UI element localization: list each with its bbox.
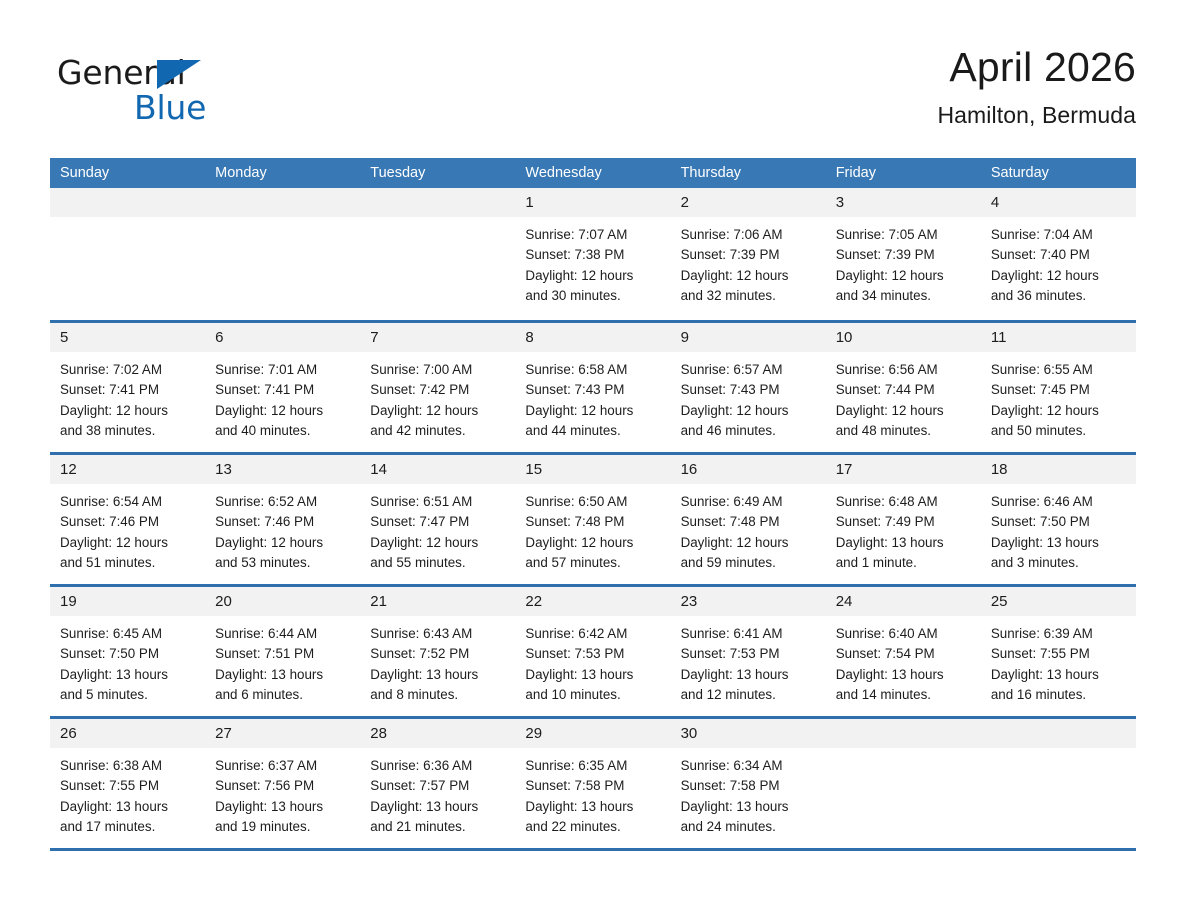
sunset-text: Sunset: 7:42 PM [370,380,505,400]
calendar-day-cell[interactable]: 14Sunrise: 6:51 AMSunset: 7:47 PMDayligh… [360,455,515,584]
day-number-band: 5 [50,323,205,352]
daylight-text: Daylight: 13 hours [991,533,1126,553]
weekday-header-sunday: Sunday [50,158,205,188]
sunrise-text: Sunrise: 6:37 AM [215,756,350,776]
daylight-text: Daylight: 13 hours [60,665,195,685]
sunset-text: Sunset: 7:46 PM [60,512,195,532]
day-number-band: 10 [826,323,981,352]
day-number: 24 [826,587,981,616]
calendar-day-cell[interactable]: 12Sunrise: 6:54 AMSunset: 7:46 PMDayligh… [50,455,205,584]
sunset-text: Sunset: 7:45 PM [991,380,1126,400]
title-block: April 2026 Hamilton, Bermuda [937,42,1136,131]
daylight-text-cont: and 30 minutes. [525,286,660,306]
day-number-band: 15 [515,455,670,484]
daylight-text-cont: and 59 minutes. [681,553,816,573]
calendar-day-cell[interactable]: 19Sunrise: 6:45 AMSunset: 7:50 PMDayligh… [50,587,205,716]
page-header: General Blue April 2026 Hamilton, Bermud… [50,42,1136,146]
daylight-text-cont: and 34 minutes. [836,286,971,306]
sunrise-text: Sunrise: 6:44 AM [215,624,350,644]
daylight-text-cont: and 46 minutes. [681,421,816,441]
daylight-text-cont: and 38 minutes. [60,421,195,441]
calendar-day-cell[interactable]: 5Sunrise: 7:02 AMSunset: 7:41 PMDaylight… [50,323,205,452]
day-details: Sunrise: 6:50 AMSunset: 7:48 PMDaylight:… [515,484,670,573]
day-number-band: 22 [515,587,670,616]
sunrise-text: Sunrise: 6:54 AM [60,492,195,512]
calendar-day-cell[interactable]: 28Sunrise: 6:36 AMSunset: 7:57 PMDayligh… [360,719,515,848]
sunset-text: Sunset: 7:50 PM [60,644,195,664]
day-number-band: 8 [515,323,670,352]
weekday-header-monday: Monday [205,158,360,188]
day-number-band: 21 [360,587,515,616]
day-number: 25 [981,587,1136,616]
daylight-text: Daylight: 12 hours [991,401,1126,421]
daylight-text: Daylight: 13 hours [60,797,195,817]
calendar-day-cell[interactable]: 3Sunrise: 7:05 AMSunset: 7:39 PMDaylight… [826,188,981,320]
daylight-text: Daylight: 13 hours [215,797,350,817]
calendar-day-cell-empty [826,719,981,848]
day-details [360,217,515,225]
daylight-text: Daylight: 13 hours [525,665,660,685]
calendar-week-row: 26Sunrise: 6:38 AMSunset: 7:55 PMDayligh… [50,716,1136,848]
day-number-band: 17 [826,455,981,484]
day-number: 8 [515,323,670,352]
calendar-day-cell[interactable]: 22Sunrise: 6:42 AMSunset: 7:53 PMDayligh… [515,587,670,716]
calendar-day-cell[interactable]: 20Sunrise: 6:44 AMSunset: 7:51 PMDayligh… [205,587,360,716]
sunset-text: Sunset: 7:41 PM [60,380,195,400]
weekday-header-tuesday: Tuesday [360,158,515,188]
day-number-band: 26 [50,719,205,748]
daylight-text: Daylight: 12 hours [525,533,660,553]
sunrise-text: Sunrise: 6:56 AM [836,360,971,380]
day-number-band: 20 [205,587,360,616]
day-number-band: 2 [671,188,826,217]
day-number: 23 [671,587,826,616]
day-number: 15 [515,455,670,484]
day-details: Sunrise: 6:44 AMSunset: 7:51 PMDaylight:… [205,616,360,705]
daylight-text-cont: and 16 minutes. [991,685,1126,705]
day-number-band: 4 [981,188,1136,217]
day-details: Sunrise: 6:48 AMSunset: 7:49 PMDaylight:… [826,484,981,573]
sunrise-text: Sunrise: 7:05 AM [836,225,971,245]
day-number: 20 [205,587,360,616]
calendar-day-cell-empty [981,719,1136,848]
day-details: Sunrise: 6:43 AMSunset: 7:52 PMDaylight:… [360,616,515,705]
daylight-text-cont: and 5 minutes. [60,685,195,705]
day-details: Sunrise: 6:37 AMSunset: 7:56 PMDaylight:… [205,748,360,837]
daylight-text: Daylight: 13 hours [370,665,505,685]
day-number: 10 [826,323,981,352]
sunset-text: Sunset: 7:46 PM [215,512,350,532]
daylight-text: Daylight: 12 hours [681,533,816,553]
sunrise-text: Sunrise: 6:36 AM [370,756,505,776]
sunset-text: Sunset: 7:52 PM [370,644,505,664]
calendar-day-cell[interactable]: 26Sunrise: 6:38 AMSunset: 7:55 PMDayligh… [50,719,205,848]
daylight-text-cont: and 24 minutes. [681,817,816,837]
sunset-text: Sunset: 7:47 PM [370,512,505,532]
sunrise-text: Sunrise: 6:39 AM [991,624,1126,644]
sunrise-text: Sunrise: 6:34 AM [681,756,816,776]
day-number-band: 14 [360,455,515,484]
sunset-text: Sunset: 7:40 PM [991,245,1126,265]
daylight-text-cont: and 42 minutes. [370,421,505,441]
day-details: Sunrise: 6:46 AMSunset: 7:50 PMDaylight:… [981,484,1136,573]
day-details: Sunrise: 6:49 AMSunset: 7:48 PMDaylight:… [671,484,826,573]
sunset-text: Sunset: 7:41 PM [215,380,350,400]
day-number: 3 [826,188,981,217]
sunrise-text: Sunrise: 7:04 AM [991,225,1126,245]
day-details [205,217,360,225]
daylight-text: Daylight: 13 hours [370,797,505,817]
daylight-text: Daylight: 12 hours [836,266,971,286]
calendar-day-cell[interactable]: 6Sunrise: 7:01 AMSunset: 7:41 PMDaylight… [205,323,360,452]
weekday-header-thursday: Thursday [671,158,826,188]
daylight-text-cont: and 57 minutes. [525,553,660,573]
day-details: Sunrise: 6:41 AMSunset: 7:53 PMDaylight:… [671,616,826,705]
daylight-text: Daylight: 12 hours [60,533,195,553]
daylight-text: Daylight: 12 hours [681,401,816,421]
day-number-band: 16 [671,455,826,484]
calendar-day-cell[interactable]: 9Sunrise: 6:57 AMSunset: 7:43 PMDaylight… [671,323,826,452]
sunrise-text: Sunrise: 6:52 AM [215,492,350,512]
sunrise-text: Sunrise: 6:35 AM [525,756,660,776]
day-details: Sunrise: 6:55 AMSunset: 7:45 PMDaylight:… [981,352,1136,441]
day-details: Sunrise: 6:40 AMSunset: 7:54 PMDaylight:… [826,616,981,705]
daylight-text-cont: and 10 minutes. [525,685,660,705]
sunset-text: Sunset: 7:58 PM [525,776,660,796]
weekday-header-friday: Friday [826,158,981,188]
day-number: 6 [205,323,360,352]
daylight-text: Daylight: 12 hours [836,401,971,421]
day-number: 5 [50,323,205,352]
grid-bottom-rule [50,848,1136,851]
day-details: Sunrise: 6:45 AMSunset: 7:50 PMDaylight:… [50,616,205,705]
day-number-band: 6 [205,323,360,352]
daylight-text-cont: and 55 minutes. [370,553,505,573]
daylight-text: Daylight: 12 hours [681,266,816,286]
day-number-band: 18 [981,455,1136,484]
daylight-text-cont: and 14 minutes. [836,685,971,705]
day-number-band: 13 [205,455,360,484]
sunrise-text: Sunrise: 6:50 AM [525,492,660,512]
calendar-day-cell[interactable]: 11Sunrise: 6:55 AMSunset: 7:45 PMDayligh… [981,323,1136,452]
day-number-band: 24 [826,587,981,616]
sunset-text: Sunset: 7:48 PM [681,512,816,532]
calendar-week-row: 1Sunrise: 7:07 AMSunset: 7:38 PMDaylight… [50,188,1136,320]
sunrise-text: Sunrise: 6:49 AM [681,492,816,512]
calendar-day-cell[interactable]: 7Sunrise: 7:00 AMSunset: 7:42 PMDaylight… [360,323,515,452]
sunrise-text: Sunrise: 6:58 AM [525,360,660,380]
daylight-text: Daylight: 12 hours [525,401,660,421]
day-number: 4 [981,188,1136,217]
sunrise-text: Sunrise: 7:07 AM [525,225,660,245]
day-details: Sunrise: 7:04 AMSunset: 7:40 PMDaylight:… [981,217,1136,306]
sunrise-text: Sunrise: 6:38 AM [60,756,195,776]
daylight-text-cont: and 21 minutes. [370,817,505,837]
sunrise-text: Sunrise: 6:41 AM [681,624,816,644]
day-number: 16 [671,455,826,484]
day-number: 22 [515,587,670,616]
daylight-text: Daylight: 13 hours [525,797,660,817]
day-details: Sunrise: 6:42 AMSunset: 7:53 PMDaylight:… [515,616,670,705]
daylight-text-cont: and 12 minutes. [681,685,816,705]
daylight-text-cont: and 32 minutes. [681,286,816,306]
daylight-text: Daylight: 12 hours [991,266,1126,286]
daylight-text-cont: and 40 minutes. [215,421,350,441]
day-number-band: 1 [515,188,670,217]
daylight-text-cont: and 17 minutes. [60,817,195,837]
day-number: 26 [50,719,205,748]
day-number-band: 23 [671,587,826,616]
day-number: 27 [205,719,360,748]
location-subtitle: Hamilton, Bermuda [937,99,1136,131]
day-details [50,217,205,225]
sunset-text: Sunset: 7:49 PM [836,512,971,532]
day-number-band: 29 [515,719,670,748]
day-number: 2 [671,188,826,217]
daylight-text: Daylight: 13 hours [681,665,816,685]
daylight-text: Daylight: 12 hours [370,401,505,421]
calendar-day-cell[interactable]: 10Sunrise: 6:56 AMSunset: 7:44 PMDayligh… [826,323,981,452]
day-details: Sunrise: 6:38 AMSunset: 7:55 PMDaylight:… [50,748,205,837]
day-number: 29 [515,719,670,748]
sunset-text: Sunset: 7:58 PM [681,776,816,796]
day-number: 7 [360,323,515,352]
daylight-text: Daylight: 12 hours [215,401,350,421]
daylight-text-cont: and 3 minutes. [991,553,1126,573]
calendar-day-cell[interactable]: 27Sunrise: 6:37 AMSunset: 7:56 PMDayligh… [205,719,360,848]
sunset-text: Sunset: 7:53 PM [681,644,816,664]
sunset-text: Sunset: 7:50 PM [991,512,1126,532]
day-number-band [205,188,360,217]
sunset-text: Sunset: 7:39 PM [836,245,971,265]
day-number: 13 [205,455,360,484]
sunset-text: Sunset: 7:48 PM [525,512,660,532]
calendar-week-row: 5Sunrise: 7:02 AMSunset: 7:41 PMDaylight… [50,320,1136,452]
sunset-text: Sunset: 7:39 PM [681,245,816,265]
daylight-text-cont: and 8 minutes. [370,685,505,705]
sunset-text: Sunset: 7:51 PM [215,644,350,664]
general-blue-logo[interactable]: General Blue [57,54,317,134]
day-number-band: 27 [205,719,360,748]
sunrise-text: Sunrise: 7:00 AM [370,360,505,380]
weekday-header-row: Sunday Monday Tuesday Wednesday Thursday… [50,158,1136,188]
day-details: Sunrise: 6:58 AMSunset: 7:43 PMDaylight:… [515,352,670,441]
day-number-band [360,188,515,217]
day-number-band [50,188,205,217]
day-number: 28 [360,719,515,748]
sunset-text: Sunset: 7:55 PM [60,776,195,796]
calendar-week-row: 19Sunrise: 6:45 AMSunset: 7:50 PMDayligh… [50,584,1136,716]
day-number-band: 7 [360,323,515,352]
sunrise-text: Sunrise: 7:01 AM [215,360,350,380]
daylight-text: Daylight: 12 hours [370,533,505,553]
daylight-text: Daylight: 13 hours [836,665,971,685]
day-details: Sunrise: 6:56 AMSunset: 7:44 PMDaylight:… [826,352,981,441]
calendar-week-row: 12Sunrise: 6:54 AMSunset: 7:46 PMDayligh… [50,452,1136,584]
day-number: 21 [360,587,515,616]
sunrise-text: Sunrise: 7:06 AM [681,225,816,245]
day-number-band: 3 [826,188,981,217]
daylight-text: Daylight: 13 hours [836,533,971,553]
calendar-day-cell[interactable]: 21Sunrise: 6:43 AMSunset: 7:52 PMDayligh… [360,587,515,716]
day-number-band [981,719,1136,748]
daylight-text: Daylight: 13 hours [681,797,816,817]
sunrise-text: Sunrise: 6:46 AM [991,492,1126,512]
sunset-text: Sunset: 7:43 PM [525,380,660,400]
day-number: 9 [671,323,826,352]
calendar-day-cell[interactable]: 4Sunrise: 7:04 AMSunset: 7:40 PMDaylight… [981,188,1136,320]
day-details: Sunrise: 7:06 AMSunset: 7:39 PMDaylight:… [671,217,826,306]
daylight-text: Daylight: 12 hours [215,533,350,553]
sunrise-text: Sunrise: 6:45 AM [60,624,195,644]
weekday-header-wednesday: Wednesday [515,158,670,188]
daylight-text: Daylight: 13 hours [991,665,1126,685]
sunrise-text: Sunrise: 6:57 AM [681,360,816,380]
weekday-header-saturday: Saturday [981,158,1136,188]
daylight-text-cont: and 44 minutes. [525,421,660,441]
day-details [981,748,1136,756]
day-details: Sunrise: 7:00 AMSunset: 7:42 PMDaylight:… [360,352,515,441]
sunrise-text: Sunrise: 6:42 AM [525,624,660,644]
sunset-text: Sunset: 7:57 PM [370,776,505,796]
calendar-day-cell-empty [50,188,205,320]
sunset-text: Sunset: 7:43 PM [681,380,816,400]
calendar-day-cell[interactable]: 13Sunrise: 6:52 AMSunset: 7:46 PMDayligh… [205,455,360,584]
calendar-day-cell[interactable]: 24Sunrise: 6:40 AMSunset: 7:54 PMDayligh… [826,587,981,716]
calendar-day-cell[interactable]: 15Sunrise: 6:50 AMSunset: 7:48 PMDayligh… [515,455,670,584]
sunset-text: Sunset: 7:55 PM [991,644,1126,664]
day-details: Sunrise: 6:54 AMSunset: 7:46 PMDaylight:… [50,484,205,573]
sunrise-text: Sunrise: 6:51 AM [370,492,505,512]
day-details: Sunrise: 6:51 AMSunset: 7:47 PMDaylight:… [360,484,515,573]
day-details: Sunrise: 6:52 AMSunset: 7:46 PMDaylight:… [205,484,360,573]
day-details: Sunrise: 6:35 AMSunset: 7:58 PMDaylight:… [515,748,670,837]
calendar-day-cell[interactable]: 23Sunrise: 6:41 AMSunset: 7:53 PMDayligh… [671,587,826,716]
sunset-text: Sunset: 7:38 PM [525,245,660,265]
calendar-day-cell[interactable]: 30Sunrise: 6:34 AMSunset: 7:58 PMDayligh… [671,719,826,848]
day-number: 12 [50,455,205,484]
day-number-band [826,719,981,748]
calendar-day-cell[interactable]: 25Sunrise: 6:39 AMSunset: 7:55 PMDayligh… [981,587,1136,716]
day-number: 30 [671,719,826,748]
day-details: Sunrise: 6:34 AMSunset: 7:58 PMDaylight:… [671,748,826,837]
day-number: 19 [50,587,205,616]
daylight-text-cont: and 19 minutes. [215,817,350,837]
daylight-text-cont: and 48 minutes. [836,421,971,441]
daylight-text-cont: and 6 minutes. [215,685,350,705]
day-number-band: 30 [671,719,826,748]
day-details: Sunrise: 7:07 AMSunset: 7:38 PMDaylight:… [515,217,670,306]
calendar-day-cell[interactable]: 8Sunrise: 6:58 AMSunset: 7:43 PMDaylight… [515,323,670,452]
calendar-day-cell[interactable]: 17Sunrise: 6:48 AMSunset: 7:49 PMDayligh… [826,455,981,584]
daylight-text-cont: and 50 minutes. [991,421,1126,441]
day-details: Sunrise: 6:36 AMSunset: 7:57 PMDaylight:… [360,748,515,837]
day-number-band: 11 [981,323,1136,352]
page-title: April 2026 [937,42,1136,92]
daylight-text-cont: and 53 minutes. [215,553,350,573]
calendar-day-cell[interactable]: 1Sunrise: 7:07 AMSunset: 7:38 PMDaylight… [515,188,670,320]
sunset-text: Sunset: 7:44 PM [836,380,971,400]
daylight-text: Daylight: 13 hours [215,665,350,685]
sunset-text: Sunset: 7:56 PM [215,776,350,796]
day-number-band: 25 [981,587,1136,616]
daylight-text-cont: and 22 minutes. [525,817,660,837]
sunset-text: Sunset: 7:54 PM [836,644,971,664]
day-details [826,748,981,756]
day-details: Sunrise: 7:02 AMSunset: 7:41 PMDaylight:… [50,352,205,441]
daylight-text: Daylight: 12 hours [525,266,660,286]
calendar-day-cell[interactable]: 29Sunrise: 6:35 AMSunset: 7:58 PMDayligh… [515,719,670,848]
day-details: Sunrise: 6:57 AMSunset: 7:43 PMDaylight:… [671,352,826,441]
daylight-text-cont: and 1 minute. [836,553,971,573]
day-number-band: 9 [671,323,826,352]
day-number: 11 [981,323,1136,352]
daylight-text: Daylight: 12 hours [60,401,195,421]
day-details: Sunrise: 7:05 AMSunset: 7:39 PMDaylight:… [826,217,981,306]
day-number-band: 12 [50,455,205,484]
sunset-text: Sunset: 7:53 PM [525,644,660,664]
day-number: 14 [360,455,515,484]
calendar-day-cell-empty [360,188,515,320]
day-number-band: 28 [360,719,515,748]
day-number: 17 [826,455,981,484]
calendar-page: General Blue April 2026 Hamilton, Bermud… [0,0,1188,918]
calendar-day-cell-empty [205,188,360,320]
logo-word-blue: Blue [134,89,206,127]
sunrise-text: Sunrise: 6:40 AM [836,624,971,644]
calendar-weeks: 1Sunrise: 7:07 AMSunset: 7:38 PMDaylight… [50,188,1136,848]
triangle-flag-icon [157,60,201,89]
day-number: 18 [981,455,1136,484]
daylight-text-cont: and 51 minutes. [60,553,195,573]
calendar-grid: Sunday Monday Tuesday Wednesday Thursday… [50,158,1136,851]
day-number: 1 [515,188,670,217]
calendar-day-cell[interactable]: 2Sunrise: 7:06 AMSunset: 7:39 PMDaylight… [671,188,826,320]
day-details: Sunrise: 7:01 AMSunset: 7:41 PMDaylight:… [205,352,360,441]
sunrise-text: Sunrise: 6:48 AM [836,492,971,512]
day-number-band: 19 [50,587,205,616]
calendar-day-cell[interactable]: 18Sunrise: 6:46 AMSunset: 7:50 PMDayligh… [981,455,1136,584]
daylight-text-cont: and 36 minutes. [991,286,1126,306]
calendar-day-cell[interactable]: 16Sunrise: 6:49 AMSunset: 7:48 PMDayligh… [671,455,826,584]
sunrise-text: Sunrise: 6:43 AM [370,624,505,644]
day-details: Sunrise: 6:39 AMSunset: 7:55 PMDaylight:… [981,616,1136,705]
sunrise-text: Sunrise: 7:02 AM [60,360,195,380]
sunrise-text: Sunrise: 6:55 AM [991,360,1126,380]
